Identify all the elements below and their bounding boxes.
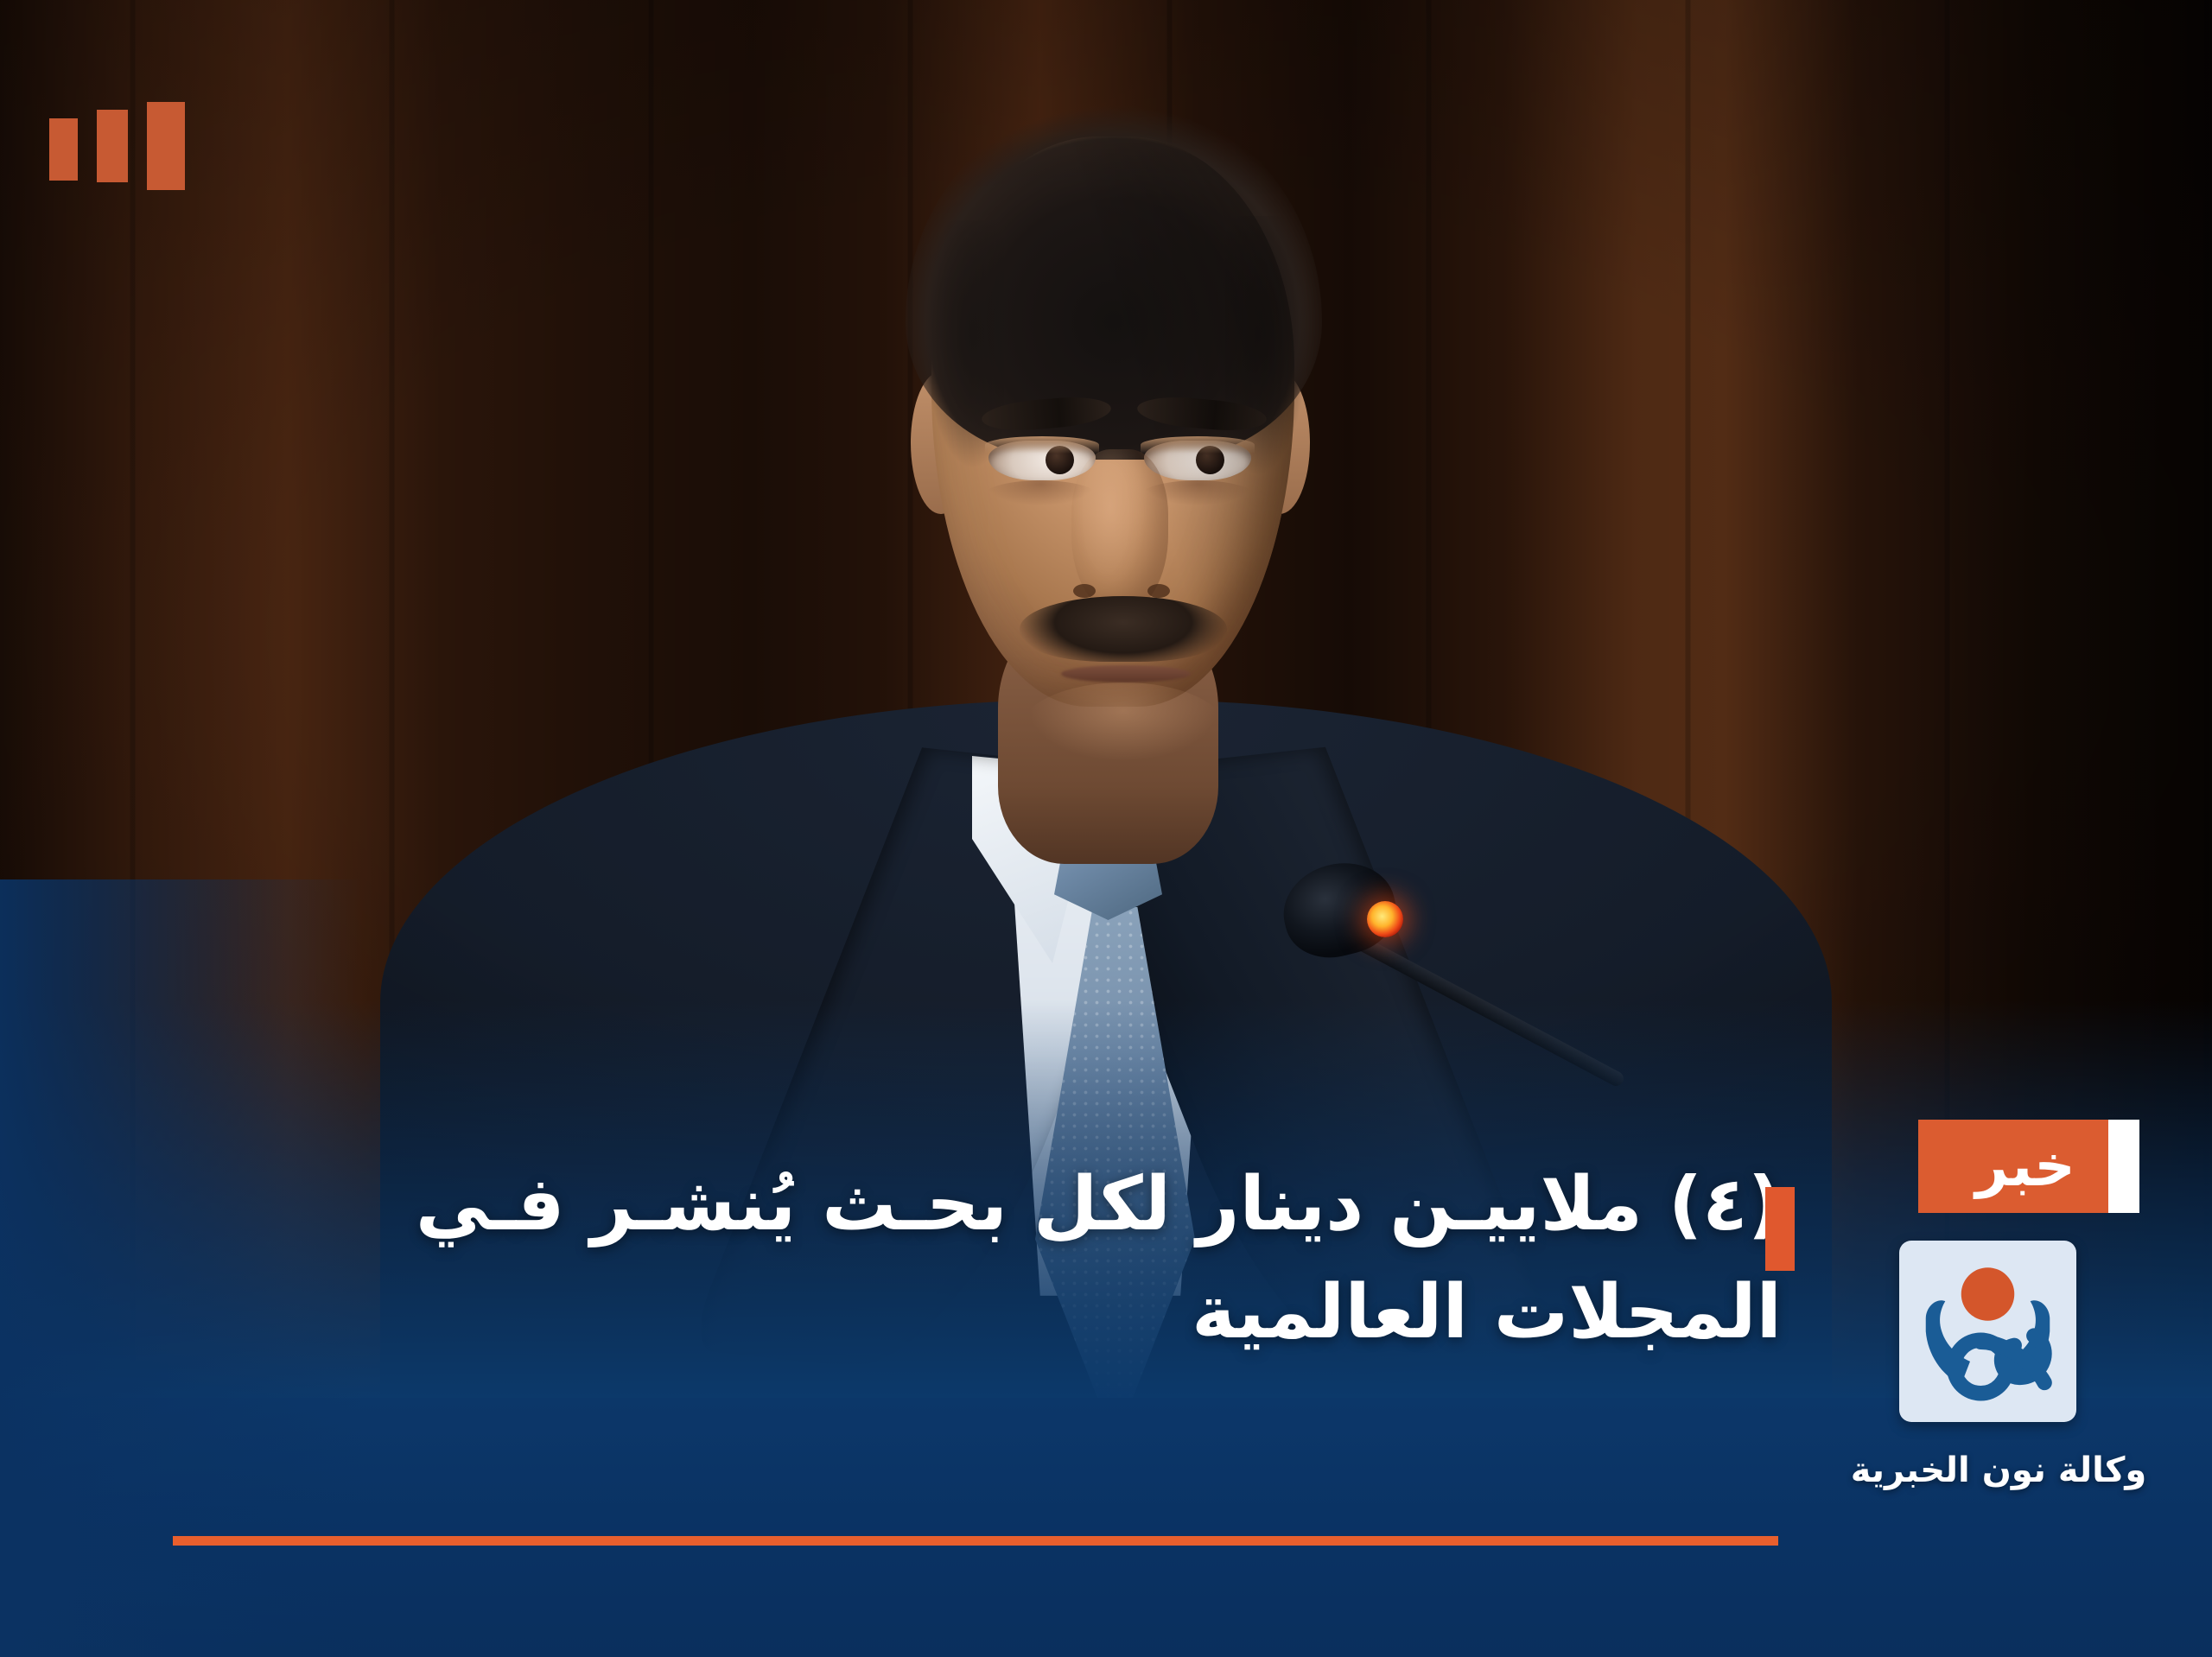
news-badge: خبر — [1918, 1120, 2162, 1213]
bar-1 — [147, 102, 185, 190]
headline-line-2: المجلات العالمية — [147, 1261, 1782, 1364]
bar-2 — [97, 110, 128, 182]
news-badge-white-tick — [2108, 1120, 2139, 1213]
news-card: (٤) ملاييـن دينار لكل بحـث يُنشـر فـي ال… — [0, 0, 2212, 1657]
bar-3 — [49, 118, 78, 181]
news-badge-label: خبر — [1975, 1138, 2075, 1195]
noon-agency-logo-glyph — [1899, 1241, 2076, 1422]
headline-underline-rule — [173, 1536, 1778, 1546]
headline-line-1: (٤) ملاييـن دينار لكل بحـث يُنشـر فـي — [147, 1153, 1782, 1256]
brand-block: خبر وكالة نون الخبرية — [1892, 1120, 2162, 1213]
noon-agency-logo — [1899, 1241, 2076, 1422]
news-badge-fill: خبر — [1918, 1120, 2133, 1213]
headline: (٤) ملاييـن دينار لكل بحـث يُنشـر فـي ال… — [147, 1153, 1782, 1363]
three-bars-icon — [49, 102, 185, 190]
brand-name: وكالة نون الخبرية — [1835, 1450, 2162, 1491]
headline-accent-bar — [1765, 1187, 1795, 1271]
